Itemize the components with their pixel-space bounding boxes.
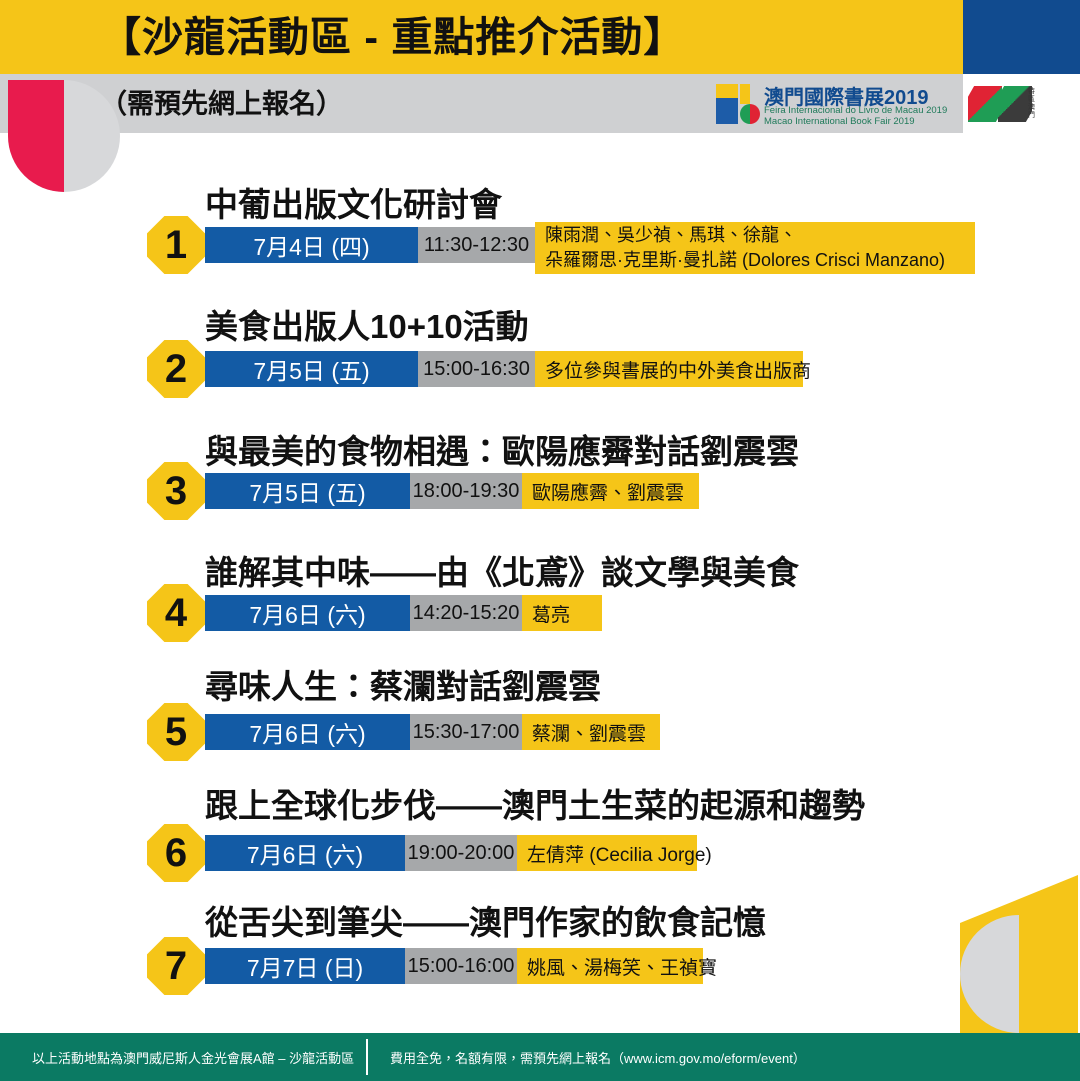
event-date: 7月5日 (五) <box>205 351 418 387</box>
event-guest-line: 蔡瀾、劉震雲 <box>532 719 646 746</box>
event-guests: 多位參與書展的中外美食出版商 <box>535 351 803 387</box>
event-guests: 姚風、湯梅笑、王禎寶 <box>517 948 703 984</box>
event-number-badge: 6 <box>147 824 205 882</box>
book-fair-title-pt: Feira Internacional do Livro de Macau 20… <box>764 105 947 116</box>
event-time: 14:20-15:20 <box>410 595 522 631</box>
event-time: 15:00-16:00 <box>405 948 517 984</box>
event-number-badge: 2 <box>147 340 205 398</box>
event-time: 19:00-20:00 <box>405 835 517 871</box>
footer-registration-note: 費用全免，名額有限，需預先網上報名（www.icm.gov.mo/eform/e… <box>390 1048 806 1067</box>
event-title: 尋味人生：蔡瀾對話劉震雲 <box>205 667 601 707</box>
event-time: 11:30-12:30 <box>418 227 535 263</box>
book-fair-title-intl: Feira Internacional do Livro de Macau 20… <box>764 105 947 127</box>
footer-venue-note: 以上活動地點為澳門威尼斯人金光會展A館 – 沙龍活動區 <box>32 1048 354 1067</box>
event-guest-line: 多位參與書展的中外美食出版商 <box>545 356 811 383</box>
event-date: 7月6日 (六) <box>205 714 410 750</box>
event-date: 7月4日 (四) <box>205 227 418 263</box>
event-guest-line: 朵羅爾思·克里斯·曼扎諾 (Dolores Crisci Manzano) <box>545 248 945 273</box>
event-guests: 葛亮 <box>522 595 602 631</box>
book-fair-title-en: Macao International Book Fair 2019 <box>764 116 947 127</box>
event-guests: 歐陽應霽、劉震雲 <box>522 473 699 509</box>
macau-government-logo-icon: 特區澳門 <box>968 82 1038 126</box>
event-date: 7月7日 (日) <box>205 948 405 984</box>
subtitle: （需預先網上報名） <box>100 86 343 122</box>
poster-root: 【沙龍活動區 - 重點推介活動】 （需預先網上報名） 澳門國際書展2019 Fe… <box>0 0 1080 1081</box>
event-date: 7月6日 (六) <box>205 835 405 871</box>
event-number-badge: 3 <box>147 462 205 520</box>
event-date: 7月6日 (六) <box>205 595 410 631</box>
event-number-badge: 4 <box>147 584 205 642</box>
event-time: 15:30-17:00 <box>410 714 522 750</box>
book-fair-logo: 澳門國際書展2019 Feira Internacional do Livro … <box>712 80 952 128</box>
event-number-badge: 5 <box>147 703 205 761</box>
event-time: 18:00-19:30 <box>410 473 522 509</box>
event-title: 誰解其中味——由《北鳶》談文學與美食 <box>205 553 799 593</box>
event-guest-line: 歐陽應霽、劉震雲 <box>532 478 684 505</box>
event-number-badge: 7 <box>147 937 205 995</box>
event-date: 7月5日 (五) <box>205 473 410 509</box>
macau-logo-caption: 特區澳門 <box>1028 88 1038 120</box>
event-guests: 陳雨潤、吳少禎、馬琪、徐龍、朵羅爾思·克里斯·曼扎諾 (Dolores Cris… <box>535 222 975 274</box>
event-guest-line: 葛亮 <box>532 600 570 627</box>
event-guests: 左倩萍 (Cecilia Jorge) <box>517 835 697 871</box>
event-title: 美食出版人10+10活動 <box>205 307 529 347</box>
event-title: 從舌尖到筆尖——澳門作家的飲食記憶 <box>205 903 766 943</box>
event-time: 15:00-16:30 <box>418 351 535 387</box>
decor-leaf-top-left-pink <box>8 80 64 192</box>
event-guest-line: 陳雨潤、吳少禎、馬琪、徐龍、 <box>545 223 797 248</box>
event-title: 與最美的食物相遇：歐陽應霽對話劉震雲 <box>205 432 799 472</box>
event-guest-line: 左倩萍 (Cecilia Jorge) <box>527 840 712 867</box>
footer-divider <box>366 1039 368 1075</box>
page-title: 【沙龍活動區 - 重點推介活動】 <box>100 12 685 62</box>
book-fair-mark-icon <box>716 84 760 124</box>
event-guest-line: 姚風、湯梅笑、王禎寶 <box>527 953 717 980</box>
event-title: 中葡出版文化研討會 <box>205 185 502 225</box>
event-number-badge: 1 <box>147 216 205 274</box>
event-guests: 蔡瀾、劉震雲 <box>522 714 660 750</box>
header-blue-block <box>963 0 1080 74</box>
event-title: 跟上全球化步伐——澳門土生菜的起源和趨勢 <box>205 786 865 826</box>
